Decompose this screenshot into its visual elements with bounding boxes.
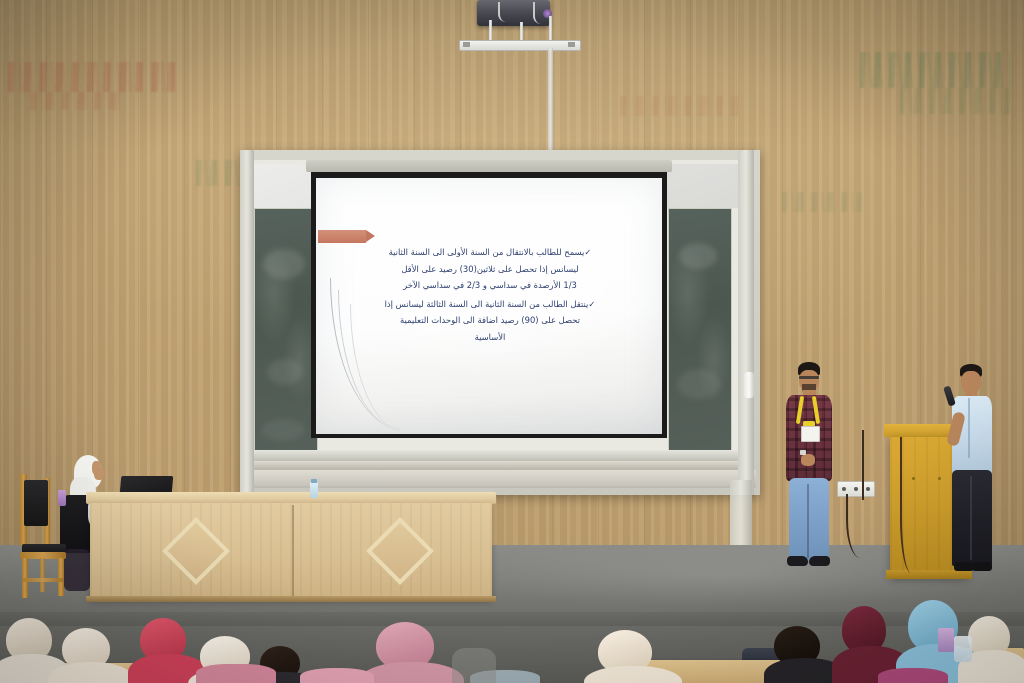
outlet-socket [854,487,858,491]
wall-graffiti-red [8,62,178,92]
slide-line: ✓يسمح للطالب بالانتقال من السنة الأولى ا… [334,246,646,260]
wall-graffiti-red [620,96,740,116]
dress-shoe [972,562,992,571]
water-bottle [310,482,318,498]
shoulders [48,662,134,683]
wristwatch [800,450,806,455]
wall-graffiti-green [196,160,242,186]
chair-leg [40,558,45,592]
screen-suspension-rod [548,48,553,153]
projector-ceiling-bracket [459,40,581,51]
board-post-left [240,150,254,495]
audience-member [592,630,676,683]
bracket-bolt [568,42,575,47]
blue-jeans [789,478,829,560]
shoulders [584,666,682,683]
eyeglasses [799,376,819,379]
raised-hand [92,461,101,475]
dark-trousers [952,470,992,566]
speaker-at-podium [948,364,994,579]
lecture-hall-photo: ✓يسمح للطالب بالانتقال من السنة الأولى ا… [0,0,1024,683]
slide-line: تحصل على (90) رصيد اضافة الى الوحدات الت… [334,314,646,328]
board-post-right [738,150,754,495]
projection-screen: ✓يسمح للطالب بالانتقال من السنة الأولى ا… [316,178,662,434]
audience-member [196,664,276,683]
board-base-rail [244,470,756,488]
audience-member [452,648,496,683]
dress-shoe [954,562,974,571]
bottle-cap [311,479,317,483]
desk-panel-seam [292,505,294,599]
sneaker [787,556,808,566]
sneaker [809,556,830,566]
desk-base-shadow [86,596,496,602]
bracket-bolt [463,42,470,47]
podium-hole [938,477,941,480]
wall-graffiti-green [860,52,1010,88]
slide-line: 1/3 الأرصدة في سداسي و 2/3 في سداسي الآخ… [334,279,646,293]
wall-graffiti-green [900,88,1010,114]
slide-line: ليسانس إذا تحصل على ثلاثين(30) رصيد على … [334,263,646,277]
audience-member [300,668,374,683]
wall-graffiti-red [30,92,120,110]
shirt-placket [968,398,970,458]
standing-student [782,362,834,580]
slide-line: الأساسية [334,331,646,345]
jeans-seam [807,484,809,558]
audience-member [370,622,460,683]
water-bottle [954,636,972,662]
chair-back-pad [24,480,48,526]
chair-leg [58,558,64,596]
wall-switch-knob [744,372,754,398]
chair-stretcher [22,578,64,582]
podium-mic-cable [900,437,928,573]
purple-bottle [938,628,954,652]
slide-line: ✓ينتقل الطالب من السنة الثانية الى السنة… [334,298,646,312]
clasped-hands [801,454,815,466]
audience-member [878,668,948,683]
projector-cable [498,2,512,22]
audience-member [770,626,840,683]
screen-case [306,160,672,172]
audience-member [58,628,132,683]
chalk-tray [252,450,748,461]
chalkboard-right [668,208,732,452]
board-bottom-rail [248,461,752,470]
wall-graffiti-green [782,192,862,212]
slide-text-block: ✓يسمح للطالب بالانتقال من السنة الأولى ا… [334,246,646,348]
outlet-socket [842,487,846,491]
projector-cable [533,2,545,24]
slide-arrow-graphic [318,230,366,243]
trouser-seam [970,476,972,560]
id-badge [801,426,820,442]
chalkboard-left [254,208,318,452]
wooden-chair [16,474,74,599]
shoulders [360,662,464,683]
